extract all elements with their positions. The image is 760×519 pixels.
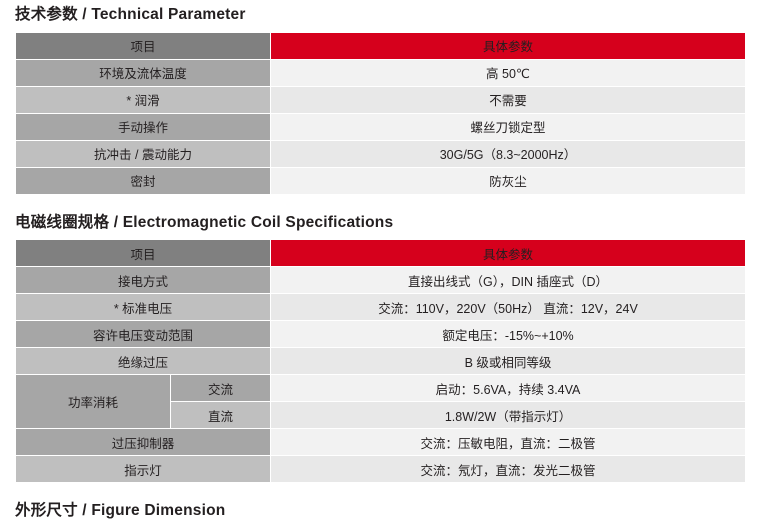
row-label: 接电方式 <box>16 267 271 294</box>
row-value: 交流：110V，220V（50Hz） 直流：12V，24V <box>271 294 746 321</box>
row-label: 过压抑制器 <box>16 429 271 456</box>
header-label-cell: 项目 <box>16 240 271 267</box>
section-title-coil: 电磁线圈规格 / Electromagnetic Coil Specificat… <box>15 195 745 231</box>
row-value: 交流：氖灯，直流：发光二极管 <box>271 456 746 483</box>
table-row: 指示灯 交流：氖灯，直流：发光二极管 <box>16 456 746 483</box>
table-row: 过压抑制器 交流：压敏电阻，直流：二极管 <box>16 429 746 456</box>
row-label: 容许电压变动范围 <box>16 321 271 348</box>
header-value-cell: 具体参数 <box>271 32 746 59</box>
section-title-figure: 外形尺寸 / Figure Dimension <box>15 483 745 519</box>
document-page: 技术参数 / Technical Parameter 项目 具体参数 环境及流体… <box>0 0 760 510</box>
table-row: 抗冲击 / 震动能力 30G/5G（8.3~2000Hz） <box>16 140 746 167</box>
row-value: 不需要 <box>271 86 746 113</box>
row-value: 启动：5.6VA，持续 3.4VA <box>271 375 746 402</box>
table-row: 密封 防灰尘 <box>16 167 746 194</box>
table-row-power-ac: 功率消耗 交流 启动：5.6VA，持续 3.4VA <box>16 375 746 402</box>
header-label-cell: 项目 <box>16 32 271 59</box>
row-label: 指示灯 <box>16 456 271 483</box>
row-value: 30G/5G（8.3~2000Hz） <box>271 140 746 167</box>
table-row: 绝缘过压 B 级或相同等级 <box>16 348 746 375</box>
coil-specifications-table: 项目 具体参数 接电方式 直接出线式（G），DIN 插座式（D） * 标准电压 … <box>15 239 746 483</box>
row-label: 环境及流体温度 <box>16 59 271 86</box>
table-row: * 标准电压 交流：110V，220V（50Hz） 直流：12V，24V <box>16 294 746 321</box>
row-value: 1.8W/2W（带指示灯） <box>271 402 746 429</box>
row-label: 抗冲击 / 震动能力 <box>16 140 271 167</box>
row-value: 交流：压敏电阻，直流：二极管 <box>271 429 746 456</box>
row-value: 高 50℃ <box>271 59 746 86</box>
header-value-cell: 具体参数 <box>271 240 746 267</box>
row-value: 螺丝刀锁定型 <box>271 113 746 140</box>
row-value: 直接出线式（G），DIN 插座式（D） <box>271 267 746 294</box>
row-label: 手动操作 <box>16 113 271 140</box>
row-label: * 润滑 <box>16 86 271 113</box>
table-row: 手动操作 螺丝刀锁定型 <box>16 113 746 140</box>
row-label: * 标准电压 <box>16 294 271 321</box>
row-label: 密封 <box>16 167 271 194</box>
row-value: 防灰尘 <box>271 167 746 194</box>
table-header-row: 项目 具体参数 <box>16 32 746 59</box>
table-row: 容许电压变动范围 额定电压：-15%~+10% <box>16 321 746 348</box>
row-label-power: 功率消耗 <box>16 375 171 429</box>
section-title-technical: 技术参数 / Technical Parameter <box>15 0 745 23</box>
technical-parameter-table: 项目 具体参数 环境及流体温度 高 50℃ * 润滑 不需要 手动操作 螺丝刀锁… <box>15 32 746 195</box>
table-row: 接电方式 直接出线式（G），DIN 插座式（D） <box>16 267 746 294</box>
row-sublabel: 直流 <box>171 402 271 429</box>
table-row: * 润滑 不需要 <box>16 86 746 113</box>
row-sublabel: 交流 <box>171 375 271 402</box>
row-value: 额定电压：-15%~+10% <box>271 321 746 348</box>
row-label: 绝缘过压 <box>16 348 271 375</box>
table-row: 环境及流体温度 高 50℃ <box>16 59 746 86</box>
row-value: B 级或相同等级 <box>271 348 746 375</box>
table-header-row: 项目 具体参数 <box>16 240 746 267</box>
